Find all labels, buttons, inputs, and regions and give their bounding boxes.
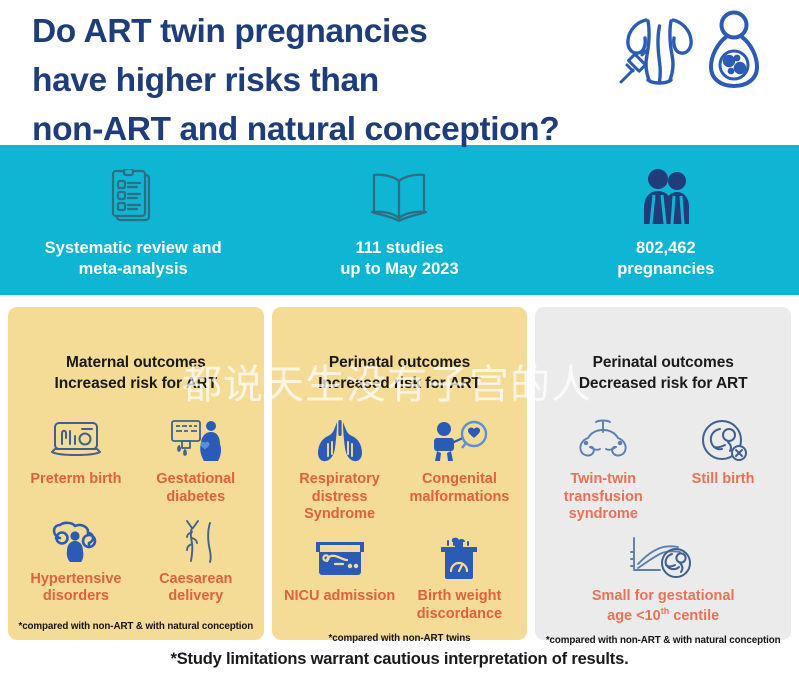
item-label: Birth weight discordance — [417, 588, 502, 623]
item-label: Hypertensive disorders — [30, 571, 121, 606]
item-caesarean-delivery: Caesarean delivery — [136, 516, 256, 606]
stat-label: 111 studies up to May 2023 — [340, 238, 458, 279]
stat-label: 802,462 pregnancies — [617, 238, 714, 279]
header-icon-group — [615, 6, 781, 95]
footer-note: *Study limitations warrant cautious inte… — [171, 650, 629, 669]
card-heading: Perinatal outcomes Decreased risk for AR… — [543, 353, 783, 394]
open-book-icon — [369, 166, 429, 228]
stat-studies-count: 111 studies up to May 2023 — [266, 160, 532, 279]
baby-heart-magnifier-icon — [430, 416, 488, 466]
item-label: Twin-twin transfusion syndrome — [564, 471, 643, 523]
card-heading: Perinatal outcomes Increased risk for AR… — [280, 353, 520, 394]
card-footnote: *compared with non-ART & with natural co… — [543, 635, 783, 648]
clipboard-checklist-icon — [111, 166, 155, 228]
item-still-birth: Still birth — [663, 416, 783, 523]
item-twin-twin-transfusion-syndrome: Twin-twin transfusion syndrome — [543, 416, 663, 523]
two-people-icon — [640, 166, 692, 228]
stillbirth-icon — [698, 416, 748, 466]
item-hypertensive-disorders: Hypertensive disorders — [16, 516, 136, 606]
item-label: Respiratory distress Syndrome — [282, 471, 398, 523]
item-preterm-birth: Preterm birth — [16, 416, 136, 506]
uterus-syringe-icon — [615, 10, 701, 95]
card-footnote: *compared with non-ART & with natural co… — [16, 621, 256, 634]
item-respiratory-distress-syndrome: Respiratory distress Syndrome — [280, 416, 400, 523]
item-birth-weight-discordance: Birth weight discordance — [400, 533, 520, 623]
card-footnote: *compared with non-ART twins — [280, 633, 520, 646]
blood-pressure-pregnant-icon — [48, 516, 104, 566]
baby-scale-icon — [435, 533, 483, 583]
card-heading: Maternal outcomes Increased risk for ART — [16, 353, 256, 394]
header: Do ART twin pregnancies have higher risk… — [0, 0, 799, 145]
item-nicu-admission: NICU admission — [280, 533, 400, 623]
stat-systematic-review: Systematic review and meta-analysis — [0, 160, 266, 279]
page-title: Do ART twin pregnancies have higher risk… — [32, 6, 559, 155]
card-items: Twin-twin transfusion syndrome — [543, 394, 783, 635]
item-small-for-gestational-age: Small for gestationalage <10th centile — [543, 533, 783, 625]
glucose-test-pregnant-icon — [169, 416, 223, 466]
item-congenital-malformations: Congenital malformations — [400, 416, 520, 523]
stat-label: Systematic review and meta-analysis — [45, 238, 222, 279]
caesarean-scar-icon — [173, 516, 219, 566]
infographic-root: Do ART twin pregnancies have higher risk… — [0, 0, 799, 684]
card-items: Preterm birth — [16, 394, 256, 621]
twin-fetuses-placenta-icon — [574, 416, 632, 466]
card-items: Respiratory distress Syndrome — [280, 394, 520, 633]
growth-chart-fetus-icon — [626, 533, 700, 583]
stat-pregnancies-count: 802,462 pregnancies — [533, 160, 799, 279]
item-label: Preterm birth — [30, 471, 121, 488]
item-gestational-diabetes: Gestational diabetes — [136, 416, 256, 506]
item-label: Small for gestationalage <10th centile — [592, 588, 735, 625]
item-label: Congenital malformations — [409, 471, 509, 506]
pregnant-figure-twins-icon — [707, 10, 761, 95]
ultrasound-monitor-icon — [51, 416, 101, 466]
incubator-icon — [313, 533, 367, 583]
item-label: Caesarean delivery — [159, 571, 232, 606]
item-label: NICU admission — [284, 588, 395, 605]
lungs-icon — [315, 416, 365, 466]
outcome-cards: Maternal outcomes Increased risk for ART — [0, 295, 799, 640]
card-perinatal-outcomes-increased: Perinatal outcomes Increased risk for AR… — [272, 307, 528, 640]
item-label: Still birth — [692, 471, 755, 488]
item-label: Gestational diabetes — [156, 471, 235, 506]
stats-band: Systematic review and meta-analysis 111 … — [0, 145, 799, 295]
card-perinatal-outcomes-decreased: Perinatal outcomes Decreased risk for AR… — [535, 307, 791, 640]
card-maternal-outcomes: Maternal outcomes Increased risk for ART — [8, 307, 264, 640]
